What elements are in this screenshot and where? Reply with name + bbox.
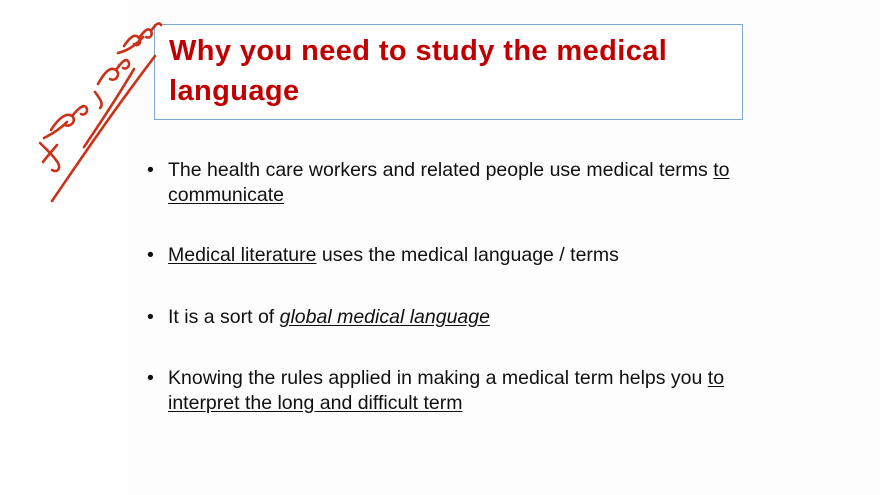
annotation-stroke-short (84, 69, 134, 147)
list-item-segment: It is a sort of (168, 306, 280, 328)
bullet-dot-icon: • (147, 158, 154, 183)
list-item-text: Knowing the rules applied in making a me… (168, 366, 780, 416)
title-box: Why you need to study the medical langua… (154, 24, 743, 120)
list-item: • Medical literature uses the medical la… (140, 243, 780, 268)
bullet-list: • The health care workers and related pe… (140, 158, 780, 416)
list-item-segment-emphasis: global medical language (280, 306, 490, 328)
list-item-segment: The health care workers and related peop… (168, 159, 713, 181)
bullet-dot-icon: • (147, 243, 154, 268)
list-item: • The health care workers and related pe… (140, 158, 780, 208)
bullet-dot-icon: • (147, 366, 154, 391)
list-item-segment: uses the medical language / terms (316, 244, 618, 266)
annotation-glyph-9 (72, 106, 87, 116)
list-item-text: Medical literature uses the medical lang… (168, 243, 780, 268)
annotation-glyph-10 (44, 122, 67, 138)
list-item: • Knowing the rules applied in making a … (140, 366, 780, 416)
annotation-glyph-12 (43, 145, 57, 162)
slide-canvas: Why you need to study the medical langua… (0, 0, 880, 495)
list-item: • It is a sort of global medical languag… (140, 305, 780, 330)
page-title: Why you need to study the medical langua… (169, 31, 731, 111)
list-item-text: The health care workers and related peop… (168, 158, 780, 208)
annotation-glyph-11 (40, 143, 59, 171)
bullet-dot-icon: • (147, 305, 154, 330)
list-item-text: It is a sort of global medical language (168, 305, 780, 330)
list-item-segment: Knowing the rules applied in making a me… (168, 367, 708, 389)
annotation-glyph-8 (51, 115, 74, 130)
list-item-segment-underlined: Medical literature (168, 244, 316, 266)
annotation-glyph-5 (98, 69, 118, 84)
annotation-glyph-7 (95, 92, 102, 108)
